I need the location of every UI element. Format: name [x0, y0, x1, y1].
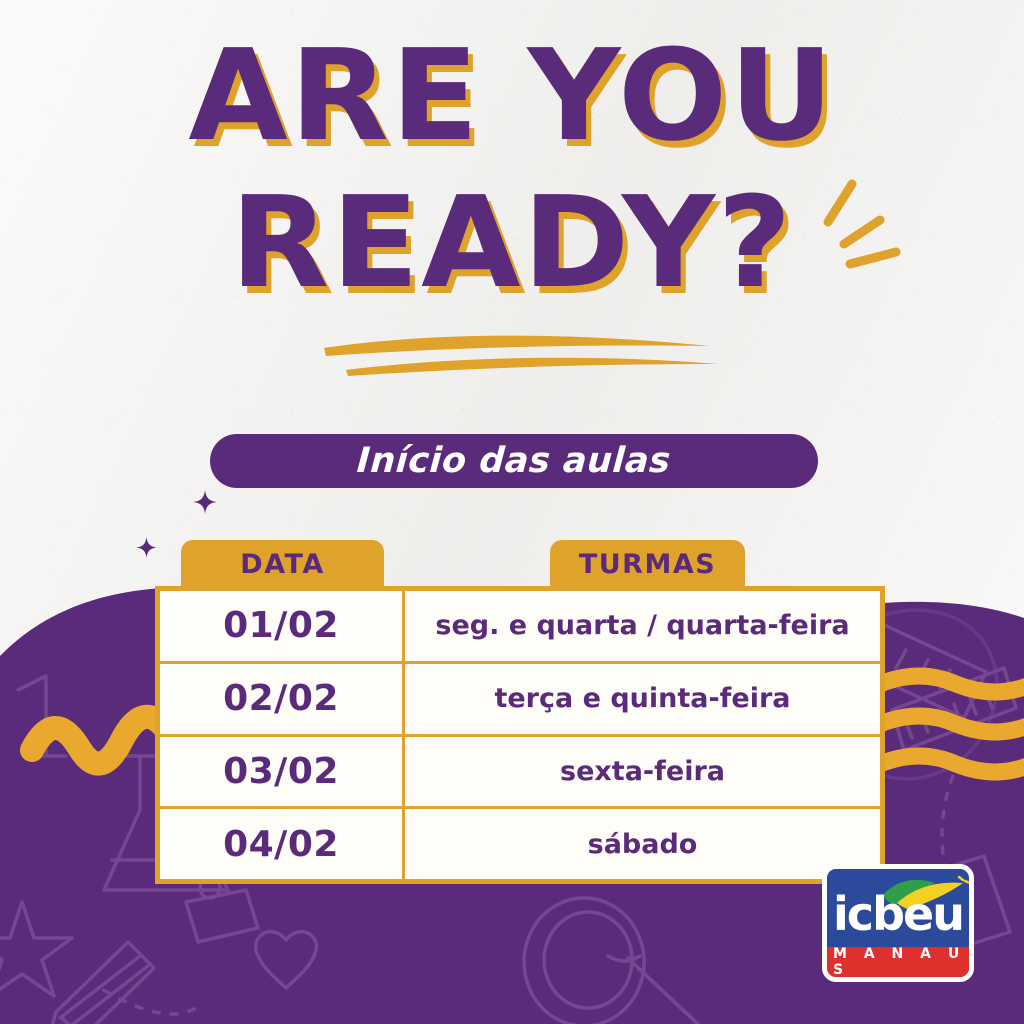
column-header-data: DATA	[181, 540, 384, 588]
table-cell-date: 04/02	[160, 809, 405, 879]
table-row: 01/02 seg. e quarta / quarta-feira	[160, 591, 880, 664]
icbeu-city-bar: M A N A U S	[827, 947, 969, 977]
table-row: 03/02 sexta-feira	[160, 737, 880, 810]
burst-lines-icon	[806, 176, 916, 276]
column-header-data-label: DATA	[240, 549, 324, 580]
subtitle-text: Início das aulas	[356, 441, 672, 481]
icbeu-logo: icbeu M A N A U S	[822, 864, 974, 982]
headline-line-1: ARE YOU	[0, 34, 1024, 157]
icbeu-city-label: M A N A U S	[827, 946, 969, 978]
table-cell-date: 01/02	[160, 591, 405, 661]
gold-underline-strokes	[318, 322, 738, 384]
table-cell-date-text: 01/02	[223, 605, 339, 646]
schedule-table: 01/02 seg. e quarta / quarta-feira 02/02…	[155, 586, 885, 884]
subtitle-banner: Início das aulas	[210, 434, 818, 488]
table-cell-classes: sexta-feira	[405, 737, 880, 807]
poster-canvas: ARE YOU READY? Início das aulas DATA TUR…	[0, 0, 1024, 1024]
column-header-turmas: TURMAS	[550, 540, 745, 588]
table-cell-classes: sábado	[405, 809, 880, 879]
table-cell-classes-text: seg. e quarta / quarta-feira	[425, 610, 859, 641]
table-row: 04/02 sábado	[160, 809, 880, 879]
sparkle-icon	[136, 537, 157, 558]
table-cell-classes: terça e quinta-feira	[405, 664, 880, 734]
table-cell-date-text: 04/02	[223, 824, 339, 865]
table-cell-date: 03/02	[160, 737, 405, 807]
icbeu-wordmark: icbeu	[827, 887, 969, 941]
table-row: 02/02 terça e quinta-feira	[160, 664, 880, 737]
column-header-turmas-label: TURMAS	[579, 549, 716, 580]
sparkle-icon	[193, 490, 217, 514]
table-cell-date-text: 02/02	[223, 678, 339, 719]
table-cell-date-text: 03/02	[223, 751, 339, 792]
table-cell-date: 02/02	[160, 664, 405, 734]
table-header-tabs: DATA TURMAS	[155, 540, 895, 588]
table-cell-classes-text: sábado	[578, 829, 708, 860]
table-cell-classes-text: sexta-feira	[550, 756, 735, 787]
table-cell-classes: seg. e quarta / quarta-feira	[405, 591, 880, 661]
table-cell-classes-text: terça e quinta-feira	[484, 683, 800, 714]
